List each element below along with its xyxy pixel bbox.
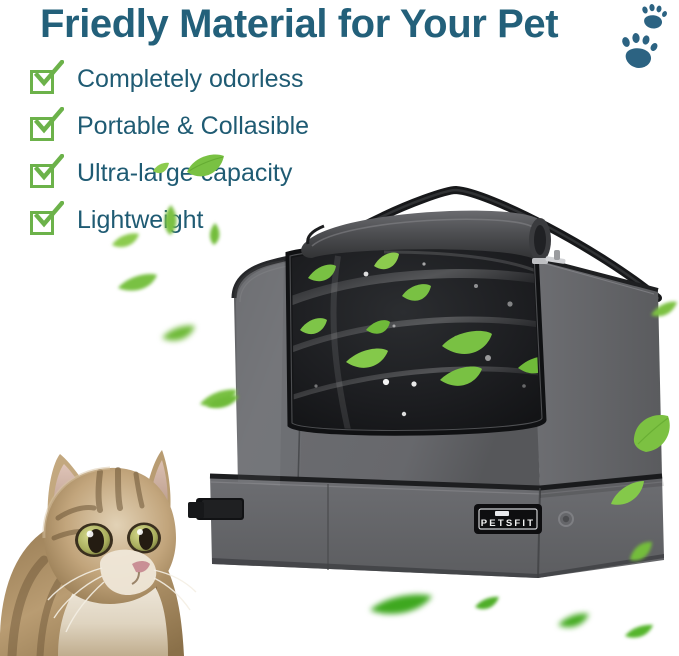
product-marketing-image: Friedly Material for Your Pet Completely… [0, 0, 679, 656]
leaf-icon [474, 596, 500, 612]
tabby-cat-photo [0, 388, 222, 656]
leaf-icon [206, 394, 240, 410]
leaf-icon [152, 162, 170, 176]
leaf-icon [628, 540, 654, 564]
leaf-icon [368, 592, 434, 618]
cat-eye-right [127, 523, 161, 554]
pet-carrier-bag: PETSFIT [188, 186, 679, 578]
leaf-icon [110, 232, 140, 250]
mesh-ventilation-window [278, 245, 560, 434]
list-item-label: Portable & Collasible [77, 112, 309, 141]
brand-label: PETSFIT [481, 518, 535, 529]
check-mark-icon [34, 201, 64, 231]
check-mark-icon [34, 60, 64, 90]
page-title: Friedly Material for Your Pet [40, 2, 640, 47]
brand-plate: PETSFIT [474, 504, 542, 534]
leaf-icon [624, 624, 654, 640]
leaf-icon [160, 324, 196, 344]
leaf-icon [630, 412, 674, 454]
paw-print-small-icon [636, 4, 670, 34]
leaf-icon [116, 272, 158, 294]
list-item-label: Completely odorless [77, 65, 304, 94]
leaf-icon [206, 222, 224, 246]
leaf-icon [184, 152, 226, 182]
check-mark-icon [34, 107, 64, 137]
leaf-icon [556, 612, 590, 630]
list-item: Completely odorless [30, 66, 430, 113]
leaf-icon [610, 480, 646, 508]
list-item-label: Lightweight [77, 206, 203, 235]
list-item: Portable & Collasible [30, 113, 430, 160]
leaf-icon [650, 300, 678, 320]
paw-print-large-icon [616, 32, 662, 76]
cat-eye-left [75, 523, 113, 557]
check-mark-icon [34, 154, 64, 184]
leaf-icon [160, 204, 182, 236]
